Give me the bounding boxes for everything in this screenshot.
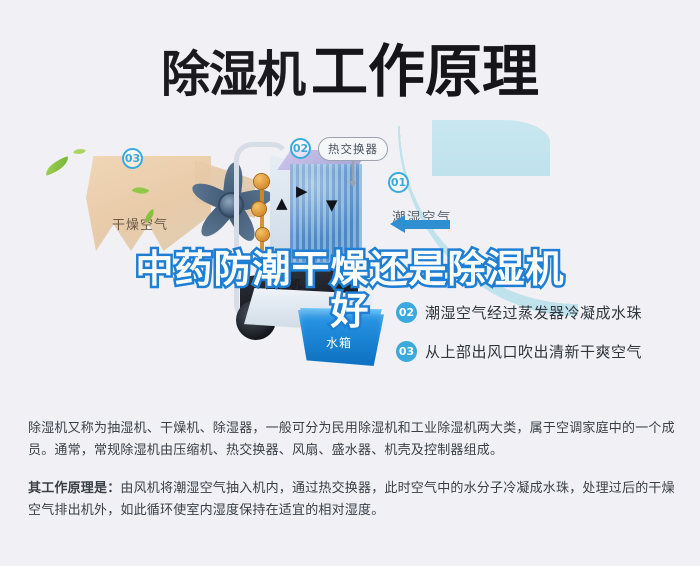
dehumidifier-unit: ▲ ▶ ▼ 压缩机 水箱 [250, 138, 410, 388]
heat-exchanger-callout: 热交换器 [318, 137, 388, 161]
badge-01-moist-air: 01 [388, 172, 409, 193]
arrow-down-icon: ▼ [326, 198, 338, 213]
water-tank-label: 水箱 [326, 334, 352, 351]
intake-arrow-icon [404, 220, 450, 229]
compressor-label: 压缩机 [266, 276, 302, 292]
dehumidifier-diagram: 干燥空气 03 [0, 120, 700, 405]
body-copy: 除湿机又称为抽湿机、干燥机、除湿器，一般可分为民用除湿机和工业除湿机两大类，属于… [28, 418, 676, 538]
step-badge: 03 [396, 341, 417, 362]
step-item: 02 潮湿空气经过蒸发器冷凝成水珠 [396, 302, 642, 323]
step-item: 03 从上部出风口吹出清新干爽空气 [396, 341, 642, 362]
paragraph-2-text: 由风机将潮湿空气抽入机内，通过热交换器，此时空气中的水分子冷凝成水珠，处理过后的… [28, 481, 675, 518]
copper-coil [252, 202, 266, 216]
leaf-icon [43, 156, 71, 175]
badge-03-dry-air: 03 [122, 148, 143, 169]
paragraph-2: 其工作原理是：由风机将潮湿空气抽入机内，通过热交换器，此时空气中的水分子冷凝成水… [28, 478, 676, 522]
page-title-part1: 除湿机 [161, 46, 305, 103]
arrow-right-icon: ▶ [296, 184, 308, 199]
paragraph-2-prefix: 其工作原理是： [28, 481, 120, 496]
leaf-icon [73, 146, 86, 156]
arrow-up-icon: ▲ [276, 196, 288, 211]
page-title: 除湿机工作原理 [0, 26, 700, 108]
step-text: 从上部出风口吹出清新干爽空气 [425, 341, 642, 362]
copper-coil [256, 228, 269, 241]
step-badge: 02 [396, 302, 417, 323]
dry-air-label: 干燥空气 [112, 214, 168, 233]
copper-coil [254, 174, 269, 189]
badge-02-heat-exchanger: 02 [290, 138, 311, 159]
step-text: 潮湿空气经过蒸发器冷凝成水珠 [425, 302, 642, 323]
moist-air-swoosh-tail-icon [432, 120, 550, 176]
infographic-page: 除湿机工作原理 干燥空气 03 [0, 0, 700, 566]
page-title-part2: 工作原理 [311, 39, 539, 105]
paragraph-1: 除湿机又称为抽湿机、干燥机、除湿器，一般可分为民用除湿机和工业除湿机两大类，属于… [28, 418, 676, 462]
